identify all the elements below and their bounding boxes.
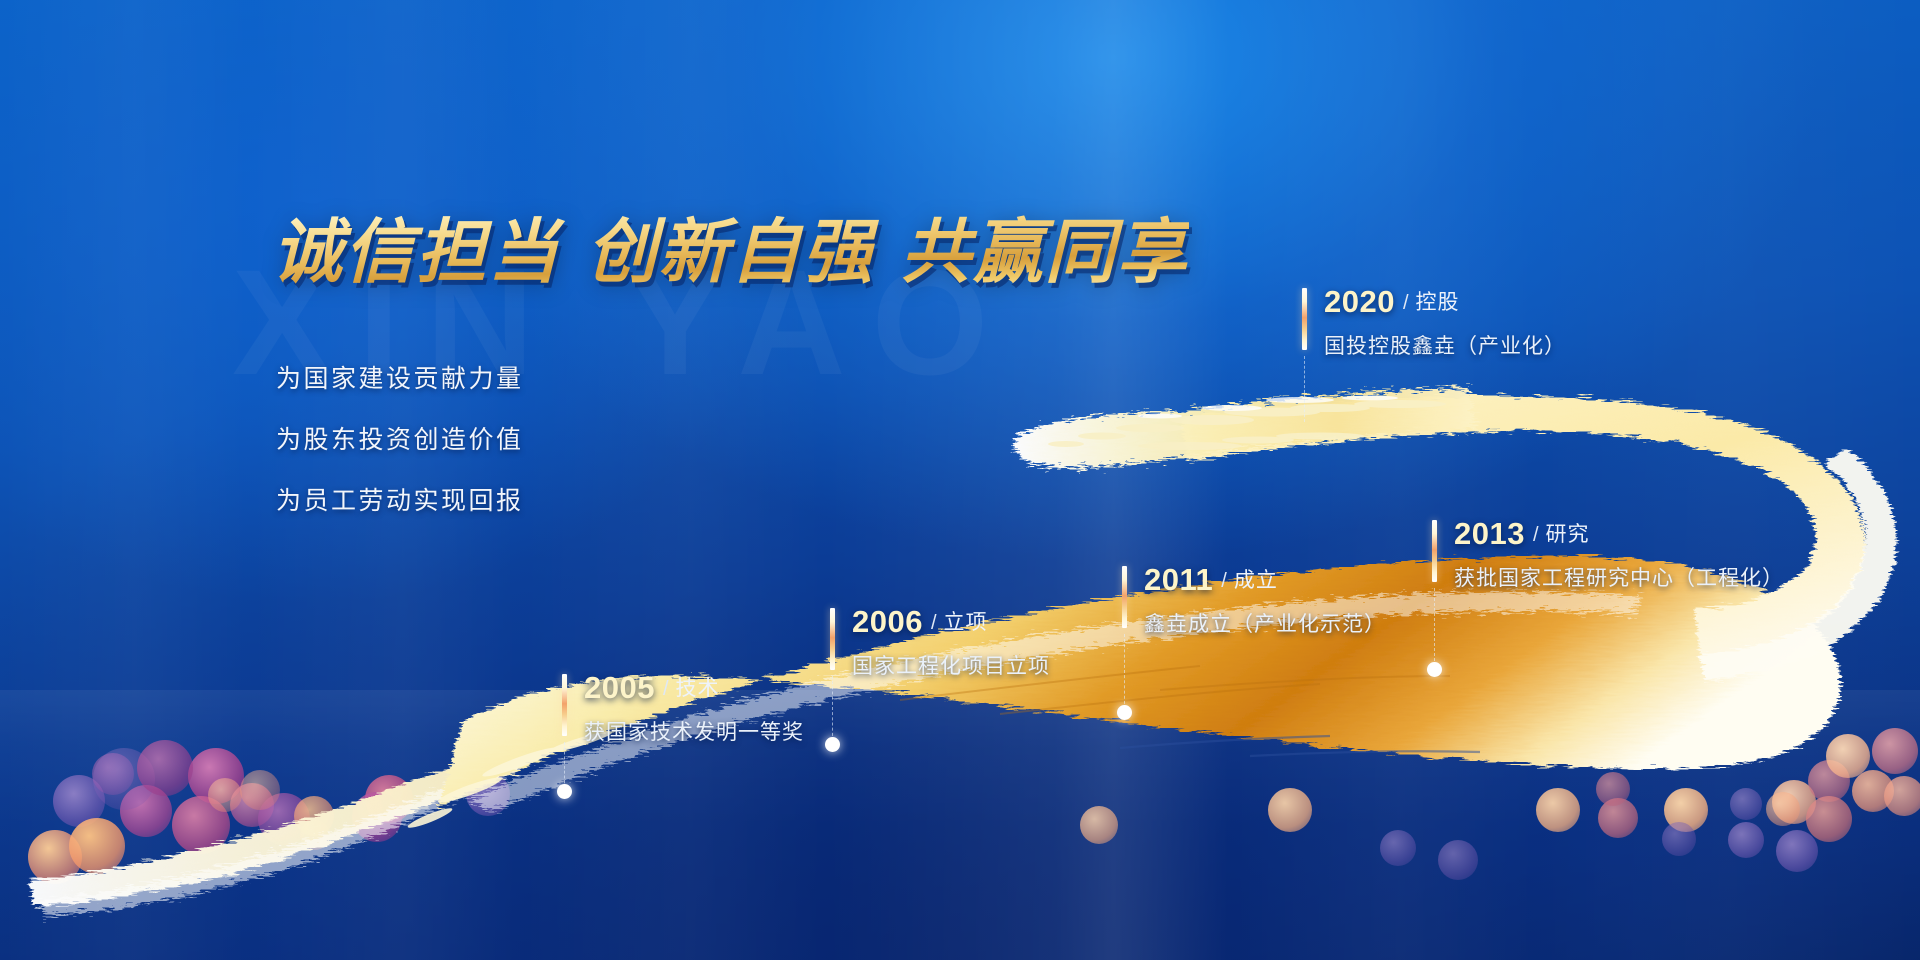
- bokeh-circle: [1380, 830, 1416, 866]
- milestone-dot-2006[interactable]: [825, 737, 840, 752]
- milestone-tag: 技术: [676, 677, 720, 700]
- milestone-year-row: 2020/控股: [1324, 286, 1566, 317]
- milestone-year-row: 2013/研究: [1454, 518, 1784, 549]
- banner-stage: XIN YAO 诚信担当 创新自强 共赢同享 为国家建设贡献力量 为股东投资创造…: [0, 0, 1920, 960]
- bokeh-circle: [365, 775, 413, 823]
- bokeh-circle: [1808, 760, 1850, 802]
- bokeh-circle: [172, 796, 230, 854]
- milestone-tag: 立项: [944, 611, 988, 634]
- milestone-tag: 控股: [1416, 291, 1460, 314]
- milestone-body: 2005/技术 获国家技术发明一等奖: [562, 672, 804, 746]
- slogan-line-1: 为国家建设贡献力量: [276, 359, 524, 395]
- bokeh-circle: [1826, 734, 1870, 778]
- milestone-leader-line-2011: [1124, 634, 1125, 709]
- milestone-year-row: 2006/立项: [852, 606, 1050, 637]
- bokeh-circle: [240, 770, 280, 810]
- bokeh-circle: [137, 740, 193, 796]
- milestone-description: 国投控股鑫垚（产业化）: [1324, 330, 1566, 360]
- milestone-year: 2006: [852, 604, 923, 639]
- milestone-dot-2013[interactable]: [1427, 662, 1442, 677]
- accent-bar-icon: [1122, 566, 1127, 628]
- bokeh-circle: [1728, 822, 1764, 858]
- milestone-separator: /: [1403, 292, 1409, 314]
- bokeh-circle: [1080, 806, 1118, 844]
- milestone-separator: /: [1221, 570, 1227, 592]
- milestone-body: 2006/立项 国家工程化项目立项: [830, 606, 1050, 680]
- milestone-header: 2006/立项 国家工程化项目立项: [830, 606, 1050, 680]
- milestone-separator: /: [931, 612, 937, 634]
- bokeh-circle: [69, 818, 125, 874]
- milestone-description: 国家工程化项目立项: [852, 650, 1050, 680]
- milestone-dot-2005[interactable]: [557, 784, 572, 799]
- brush-stroke-graphic: [0, 0, 1920, 960]
- bokeh-circle: [1536, 788, 1580, 832]
- bokeh-circle: [120, 785, 172, 837]
- bokeh-circle: [28, 830, 82, 884]
- milestone-year: 2005: [584, 670, 655, 705]
- milestone-body: 2013/研究 获批国家工程研究中心（工程化）: [1432, 518, 1784, 592]
- milestone-header: 2020/控股 国投控股鑫垚（产业化）: [1302, 286, 1566, 360]
- bokeh-circle: [1596, 772, 1630, 806]
- accent-bar-icon: [830, 608, 835, 670]
- milestone-leader-line-2005: [564, 742, 565, 788]
- accent-bar-icon: [1302, 288, 1307, 350]
- milestone-year-row: 2011/成立: [1144, 564, 1386, 595]
- milestone-description: 获批国家工程研究中心（工程化）: [1454, 562, 1784, 592]
- bokeh-circle: [93, 748, 155, 810]
- bokeh-circle: [1872, 728, 1918, 774]
- milestone-leader-line-2013: [1434, 588, 1435, 666]
- milestone-leader-line-2020: [1304, 356, 1305, 422]
- bokeh-circle: [352, 792, 402, 842]
- milestone-leader-line-2006: [832, 676, 833, 741]
- bokeh-circle: [188, 748, 244, 804]
- milestone-body: 2011/成立 鑫垚成立（产业化示范）: [1122, 564, 1386, 638]
- milestone-year: 2013: [1454, 516, 1525, 551]
- bokeh-circle: [1662, 822, 1696, 856]
- milestone-2020[interactable]: 2020/控股 国投控股鑫垚（产业化）: [1302, 286, 1566, 360]
- bokeh-circle: [1268, 788, 1312, 832]
- milestone-2006[interactable]: 2006/立项 国家工程化项目立项: [830, 606, 1050, 680]
- milestone-header: 2011/成立 鑫垚成立（产业化示范）: [1122, 564, 1386, 638]
- bokeh-circle: [1598, 798, 1638, 838]
- bokeh-circle: [466, 772, 510, 816]
- bokeh-circle: [1438, 840, 1478, 880]
- bokeh-circle: [1852, 770, 1894, 812]
- bokeh-circle: [1772, 780, 1816, 824]
- milestone-tag: 成立: [1234, 569, 1278, 592]
- bokeh-circle: [53, 775, 105, 827]
- bokeh-circle: [1664, 788, 1708, 832]
- page-title: 诚信担当 创新自强 共赢同享: [272, 196, 1189, 297]
- milestone-description: 鑫垚成立（产业化示范）: [1144, 608, 1386, 638]
- bokeh-circle: [1766, 792, 1800, 826]
- milestone-header: 2013/研究 获批国家工程研究中心（工程化）: [1432, 518, 1784, 592]
- accent-bar-icon: [562, 674, 567, 736]
- bokeh-circle: [1884, 776, 1920, 816]
- bokeh-circle: [1730, 788, 1762, 820]
- milestone-dot-2011[interactable]: [1117, 705, 1132, 720]
- bokeh-circle: [294, 796, 334, 836]
- milestone-separator: /: [1533, 524, 1539, 546]
- milestone-year: 2020: [1324, 284, 1395, 319]
- bokeh-circle: [230, 783, 274, 827]
- bokeh-circle: [92, 753, 134, 795]
- milestone-2013[interactable]: 2013/研究 获批国家工程研究中心（工程化）: [1432, 518, 1784, 592]
- bokeh-circle: [300, 820, 330, 850]
- bokeh-circle: [1776, 830, 1818, 872]
- milestone-2005[interactable]: 2005/技术 获国家技术发明一等奖: [562, 672, 804, 746]
- slogan-line-3: 为员工劳动实现回报: [276, 481, 524, 517]
- background-light-band: [0, 690, 1920, 830]
- milestone-header: 2005/技术 获国家技术发明一等奖: [562, 672, 804, 746]
- milestone-tag: 研究: [1546, 523, 1590, 546]
- bokeh-circle: [258, 793, 310, 845]
- bokeh-circle: [208, 778, 242, 812]
- milestone-year-row: 2005/技术: [584, 672, 804, 703]
- milestone-2011[interactable]: 2011/成立 鑫垚成立（产业化示范）: [1122, 564, 1386, 638]
- milestone-separator: /: [663, 678, 669, 700]
- bokeh-circle: [1806, 796, 1852, 842]
- milestone-year: 2011: [1144, 562, 1213, 597]
- slogan-line-2: 为股东投资创造价值: [276, 420, 524, 456]
- milestone-body: 2020/控股 国投控股鑫垚（产业化）: [1302, 286, 1566, 360]
- accent-bar-icon: [1432, 520, 1437, 582]
- milestone-description: 获国家技术发明一等奖: [584, 716, 804, 746]
